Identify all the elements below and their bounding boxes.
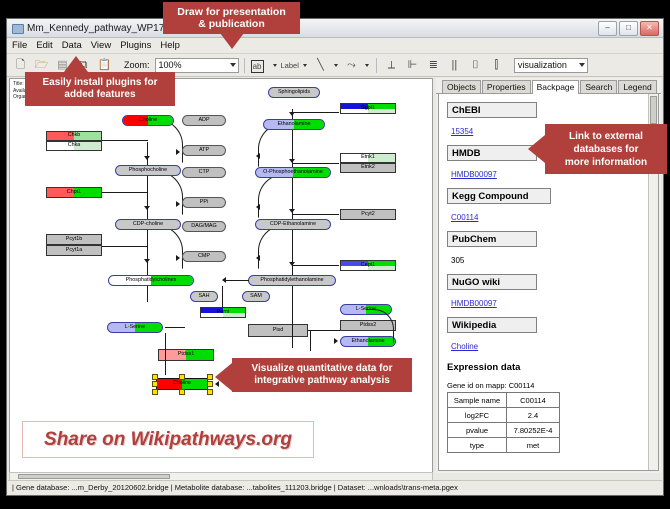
node-o-phosphoethanolamine[interactable]: O-Phosphoethanolamine (255, 167, 331, 178)
node-sam[interactable]: SAM (242, 291, 270, 302)
node-atp[interactable]: ATP (182, 145, 226, 156)
table-row: Sample name C00114 (448, 393, 560, 408)
edge-curve (147, 225, 183, 269)
node-ppi[interactable]: PPi (182, 197, 226, 208)
node-chkb[interactable]: Chkb (46, 131, 102, 141)
arrowhead (176, 255, 180, 261)
group-icon[interactable]: ⫿ (487, 56, 506, 75)
maximize-button[interactable]: □ (619, 21, 638, 36)
edge-serine-choline (165, 333, 166, 375)
db-link-wikipedia[interactable]: Choline (451, 342, 478, 351)
status-text: | Gene database: ...m_Derby_20120602.bri… (8, 483, 458, 492)
row-value: 2.4 (507, 408, 560, 423)
selection-group[interactable]: Choline (152, 374, 212, 394)
expression-data-title: Expression data (447, 362, 649, 373)
callout-arrow-up (64, 56, 88, 72)
callout-arrow-left (528, 135, 545, 163)
node-pcyt1a[interactable]: Pcyt1a (46, 245, 102, 256)
chevron-down-icon[interactable] (365, 64, 369, 67)
node-dag-mag[interactable]: DAG/MAG (182, 221, 226, 232)
node-chka[interactable]: Chka (46, 141, 102, 151)
tab-search[interactable]: Search (580, 80, 617, 93)
node-cdp-ethanolamine[interactable]: CDP-Ethanolamine (255, 219, 331, 230)
zoom-combo[interactable]: 100% (155, 58, 239, 73)
edge-gene-link (293, 265, 339, 266)
node-cept1[interactable]: Cept1 (340, 260, 396, 271)
node-etnk1[interactable]: Etnk1 (340, 153, 396, 163)
arrowhead (222, 277, 226, 283)
anchor-tool[interactable]: ⤳ (342, 56, 361, 75)
edge-pisd (310, 331, 311, 351)
menu-data[interactable]: Data (62, 40, 82, 51)
callout-visualize: Visualize quantitative data for integrat… (232, 358, 412, 392)
node-phosphocholine[interactable]: Phosphocholine (115, 165, 181, 176)
edge-curve (147, 171, 183, 215)
node-sah[interactable]: SAH (190, 291, 218, 302)
node-etnk2[interactable]: Etnk2 (340, 163, 396, 173)
node-pcyt1b[interactable]: Pcyt1b (46, 234, 102, 245)
db-link-chebi[interactable]: 15354 (451, 127, 473, 136)
table-row: log2FC 2.4 (448, 408, 560, 423)
arrowhead (176, 201, 180, 207)
table-row: type met (448, 438, 560, 453)
menu-help[interactable]: Help (160, 40, 180, 51)
tab-backpage[interactable]: Backpage (532, 80, 580, 94)
table-row: pvalue 7.80252E-4 (448, 423, 560, 438)
node-sgpl1[interactable]: Sgpl1 (340, 103, 396, 114)
toolbar-separator (376, 58, 377, 73)
chevron-down-icon[interactable] (303, 64, 307, 67)
arrowhead (176, 149, 180, 155)
node-pisd[interactable]: Pisd (248, 324, 308, 337)
db-value-pubchem: 305 (451, 256, 464, 265)
db-heading-hmdb: HMDB (447, 145, 537, 161)
tab-objects[interactable]: Objects (442, 80, 481, 93)
title-bar: Mm_Kennedy_pathway_WP1771_45176.gpml – □… (7, 19, 663, 38)
row-key: pvalue (448, 423, 507, 438)
callout-links: Link to external databases for more info… (545, 124, 667, 174)
node-phosphatidylcholines[interactable]: Phosphatidylcholines (108, 275, 194, 286)
edge-gene-link (293, 163, 339, 164)
label-tool[interactable]: Label (281, 61, 299, 70)
align-top-icon[interactable]: ⟂ (382, 56, 401, 75)
share-text: Share on Wikipathways.org (44, 429, 292, 451)
node-pemt[interactable]: Pemt (200, 307, 246, 318)
visualization-combo[interactable]: visualization (514, 58, 588, 73)
minimize-button[interactable]: – (598, 21, 617, 36)
row-value: 7.80252E-4 (507, 423, 560, 438)
scrollbar-thumb[interactable] (650, 96, 657, 124)
chevron-down-icon (579, 63, 585, 67)
edge-pisd-link (308, 330, 340, 331)
db-link-hmdb[interactable]: HMDB00097 (451, 170, 497, 179)
menu-bar: File Edit Data View Plugins Help (7, 38, 663, 54)
db-link-kegg[interactable]: C00114 (451, 213, 478, 222)
callout-arrow-left (215, 363, 232, 391)
align-left-icon[interactable]: ⊩ (403, 56, 422, 75)
callout-share: Share on Wikipathways.org (22, 421, 314, 458)
stack-icon[interactable]: ⌷ (466, 56, 485, 75)
tab-legend[interactable]: Legend (618, 80, 656, 93)
edge-pemt (222, 286, 223, 308)
node-sphingolipids[interactable]: Sphingolipids (268, 87, 320, 98)
callout-draw: Draw for presentation & publication (163, 2, 300, 34)
menu-edit[interactable]: Edit (36, 40, 52, 51)
node-adp[interactable]: ADP (182, 115, 226, 126)
edge-pe-down (292, 286, 293, 348)
node-choline-top[interactable]: Choline (122, 115, 174, 126)
toolbar-separator (244, 58, 245, 73)
close-button[interactable]: ✕ (640, 21, 659, 36)
node-l-serine-left[interactable]: L-Serine (107, 322, 163, 333)
callout-arrow-down (220, 33, 244, 49)
datanode-tool[interactable]: ab (250, 56, 269, 75)
edge-gene-link (293, 214, 339, 215)
edge-serine (165, 327, 185, 328)
chevron-down-icon (230, 63, 236, 67)
window-controls: – □ ✕ (598, 21, 659, 36)
db-heading-kegg: Kegg Compound (447, 188, 551, 204)
menu-plugins[interactable]: Plugins (120, 40, 151, 51)
edge-pc-pe (225, 280, 249, 281)
chevron-down-icon[interactable] (273, 64, 277, 67)
expression-table: Sample name C00114 log2FC 2.4 pvalue 7.8… (447, 392, 560, 453)
node-pcyt2[interactable]: Pcyt2 (340, 209, 396, 220)
distribute-horizontal-icon[interactable]: ||⟷ (445, 56, 464, 75)
db-link-nugo[interactable]: HMDB00097 (451, 299, 497, 308)
edge-curve (258, 174, 294, 218)
visualization-value: visualization (518, 60, 567, 70)
pathway-canvas[interactable]: Title: Availa Organi (9, 78, 433, 473)
edge-gene-link (293, 112, 339, 113)
node-phosphatidylethanolamine[interactable]: Phosphatidylethanolamine (248, 275, 336, 286)
row-value: met (507, 438, 560, 453)
chevron-down-icon[interactable] (334, 64, 338, 67)
node-cmp[interactable]: CMP (182, 251, 226, 262)
edge-gene-link (102, 246, 148, 247)
gene-id-line: Gene id on mapp: C00114 (447, 381, 649, 390)
row-key: type (448, 438, 507, 453)
row-value: C00114 (507, 393, 560, 408)
edge-curve (258, 225, 294, 269)
arrowhead (256, 204, 260, 210)
node-chpt1[interactable]: Chpt1 (46, 187, 102, 198)
arrowhead (334, 338, 338, 344)
distribute-vertical-icon[interactable]: ≣ (424, 56, 443, 75)
arrowhead (256, 255, 260, 261)
node-ctp[interactable]: CTP (182, 167, 226, 178)
menu-view[interactable]: View (91, 40, 111, 51)
node-ethanolamine[interactable]: Ethanolamine (263, 119, 325, 130)
db-heading-pubchem: PubChem (447, 231, 537, 247)
db-heading-wikipedia: Wikipedia (447, 317, 537, 333)
row-key: log2FC (448, 408, 507, 423)
db-heading-nugo: NuGO wiki (447, 274, 537, 290)
zoom-value: 100% (159, 60, 182, 70)
edge-gene-link (102, 140, 148, 141)
node-ptdss1[interactable]: Ptdss1 (158, 349, 214, 361)
app-icon (11, 22, 23, 34)
scrollbar-thumb[interactable] (18, 474, 170, 479)
zoom-label: Zoom: (124, 60, 150, 70)
line-tool[interactable]: ╲ (311, 56, 330, 75)
node-cdp-choline[interactable]: CDP-choline (115, 219, 181, 230)
status-bar: | Gene database: ...m_Derby_20120602.bri… (8, 480, 662, 494)
row-key: Sample name (448, 393, 507, 408)
db-heading-chebi: ChEBI (447, 102, 537, 118)
side-panel-tabs: Objects Properties Backpage Search Legen… (436, 78, 661, 94)
menu-file[interactable]: File (12, 40, 27, 51)
tab-properties[interactable]: Properties (482, 80, 531, 93)
arrowhead (256, 153, 260, 159)
callout-plugins: Easily install plugins for added feature… (25, 72, 175, 106)
edge-gene-link (102, 192, 148, 193)
